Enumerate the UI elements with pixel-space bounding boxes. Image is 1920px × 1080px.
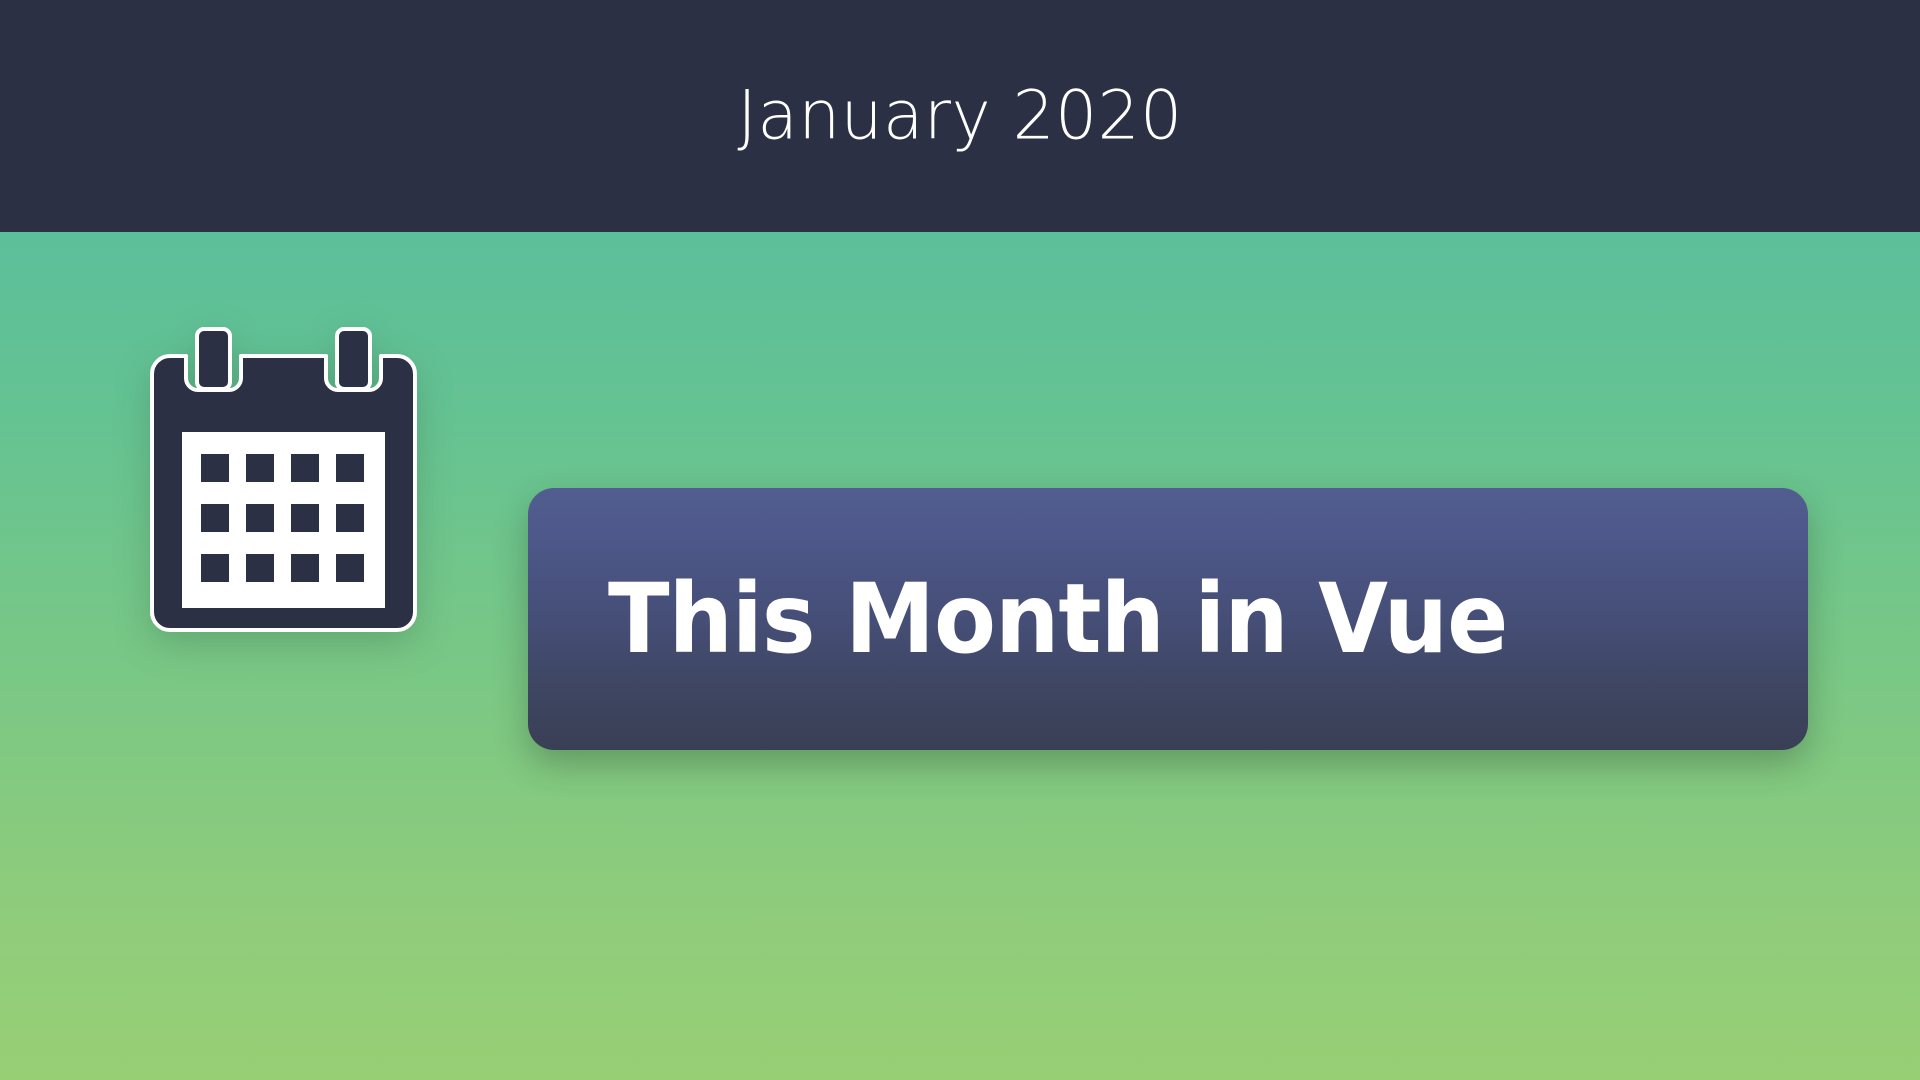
headline-banner: This Month in Vue	[528, 488, 1808, 750]
header-bar: January 2020	[0, 0, 1920, 232]
page-title: January 2020	[737, 82, 1182, 149]
headline-text: This Month in Vue	[608, 571, 1507, 667]
slide-canvas: January 2020 This Month in Vue	[0, 0, 1920, 1080]
calendar-icon	[132, 312, 432, 652]
calendar-ring-right	[337, 329, 370, 389]
calendar-ring-left	[197, 329, 230, 389]
